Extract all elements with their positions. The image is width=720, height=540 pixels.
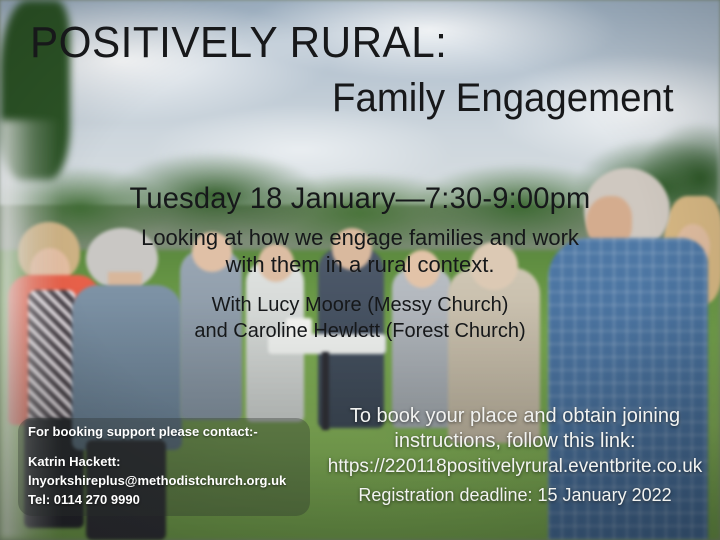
event-description-line-2: with them in a rural context. bbox=[0, 251, 720, 278]
event-datetime: Tuesday 18 January—7:30-9:00pm bbox=[11, 182, 709, 216]
event-details-block: Tuesday 18 January—7:30-9:00pm Looking a… bbox=[0, 182, 720, 344]
event-description-line-1: Looking at how we engage families and wo… bbox=[0, 224, 720, 251]
event-poster: POSITIVELY RURAL: Family Engagement Tues… bbox=[0, 0, 720, 540]
booking-line-2: instructions, follow this link: bbox=[322, 429, 708, 454]
registration-deadline: Registration deadline: 15 January 2022 bbox=[322, 482, 708, 508]
speaker-line-1: With Lucy Moore (Messy Church) bbox=[0, 292, 720, 318]
booking-support-block: For booking support please contact:- Kat… bbox=[28, 424, 318, 509]
contact-name: Katrin Hackett: bbox=[28, 452, 318, 471]
event-speakers: With Lucy Moore (Messy Church) and Carol… bbox=[0, 292, 720, 344]
poster-title-main: POSITIVELY RURAL: bbox=[30, 18, 447, 68]
poster-title-subtitle: Family Engagement bbox=[332, 76, 674, 121]
booking-url-link[interactable]: https://220118positivelyrural.eventbrite… bbox=[322, 454, 708, 480]
poster-text-layer: POSITIVELY RURAL: Family Engagement Tues… bbox=[0, 0, 720, 540]
contact-heading: For booking support please contact:- bbox=[28, 424, 318, 439]
booking-line-1: To book your place and obtain joining bbox=[322, 404, 708, 429]
booking-instructions-block: To book your place and obtain joining in… bbox=[322, 404, 708, 508]
contact-phone: Tel: 0114 270 9990 bbox=[28, 490, 318, 509]
contact-email[interactable]: lnyorkshireplus@methodistchurch.org.uk bbox=[28, 471, 318, 490]
speaker-line-2: and Caroline Hewlett (Forest Church) bbox=[0, 318, 720, 344]
